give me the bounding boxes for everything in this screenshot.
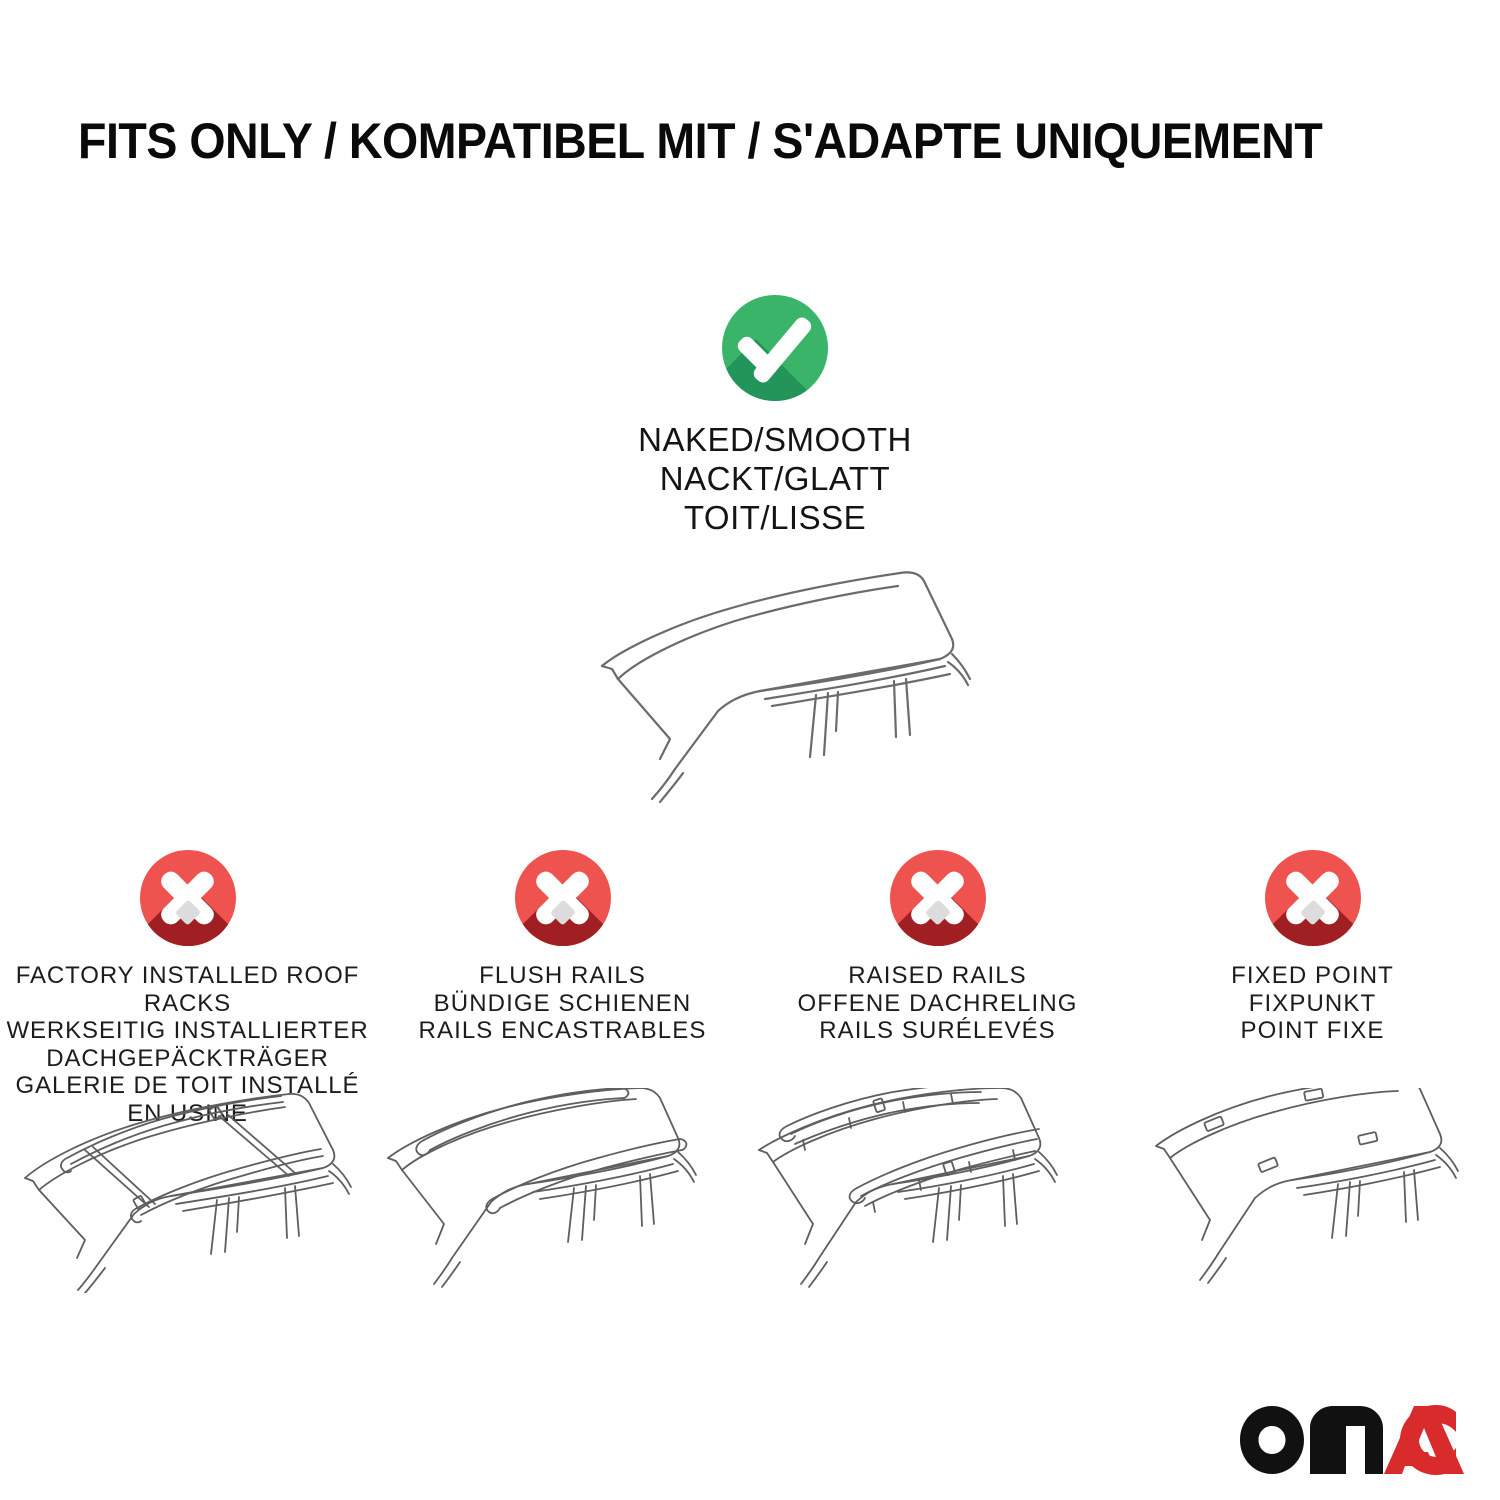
x-circle-icon: [890, 850, 986, 946]
x-circle-icon: [1265, 850, 1361, 946]
x-circle-icon: [515, 850, 611, 946]
logo-letter-o: [1240, 1406, 1304, 1474]
fits-label-line2: NACKT/GLATT: [560, 459, 990, 498]
fits-section: NAKED/SMOOTH NACKT/GLATT TOIT/LISSE: [560, 295, 990, 809]
not-fits-item-flush-rails: FLUSH RAILS BÜNDIGE SCHIENEN RAILS ENCAS…: [375, 850, 750, 1298]
omac-logo: [1238, 1404, 1464, 1478]
not-fits-item-factory-roof-racks: FACTORY INSTALLED ROOF RACKS WERKSEITIG …: [0, 850, 375, 1298]
car-roof-flush-rails-illustration: [375, 1088, 750, 1298]
car-roof-raised-rails-illustration: [750, 1088, 1125, 1298]
x-circle-icon: [140, 850, 236, 946]
logo-letter-m: [1310, 1406, 1383, 1474]
fits-label-line3: TOIT/LISSE: [560, 498, 990, 537]
x-glyph: [1265, 850, 1361, 946]
not-fits-label: FIXED POINT FIXPUNKT POINT FIXE: [1125, 962, 1500, 1045]
check-glyph: [722, 295, 828, 401]
car-roof-naked-smooth-illustration: [560, 559, 990, 809]
not-fits-section: FACTORY INSTALLED ROOF RACKS WERKSEITIG …: [0, 850, 1500, 1298]
not-fits-label: FLUSH RAILS BÜNDIGE SCHIENEN RAILS ENCAS…: [375, 962, 750, 1045]
page-title: FITS ONLY / KOMPATIBEL MIT / S'ADAPTE UN…: [78, 112, 1343, 170]
check-circle-icon: [722, 295, 828, 401]
not-fits-item-fixed-point: FIXED POINT FIXPUNKT POINT FIXE: [1125, 850, 1500, 1298]
x-glyph: [140, 850, 236, 946]
car-roof-fixed-point-illustration: [1125, 1088, 1500, 1298]
not-fits-item-raised-rails: RAISED RAILS OFFENE DACHRELING RAILS SUR…: [750, 850, 1125, 1298]
car-roof-factory-roof-racks-illustration: [0, 1088, 375, 1298]
x-glyph: [515, 850, 611, 946]
not-fits-label: RAISED RAILS OFFENE DACHRELING RAILS SUR…: [750, 962, 1125, 1045]
fits-label-line1: NAKED/SMOOTH: [560, 420, 990, 459]
x-glyph: [890, 850, 986, 946]
